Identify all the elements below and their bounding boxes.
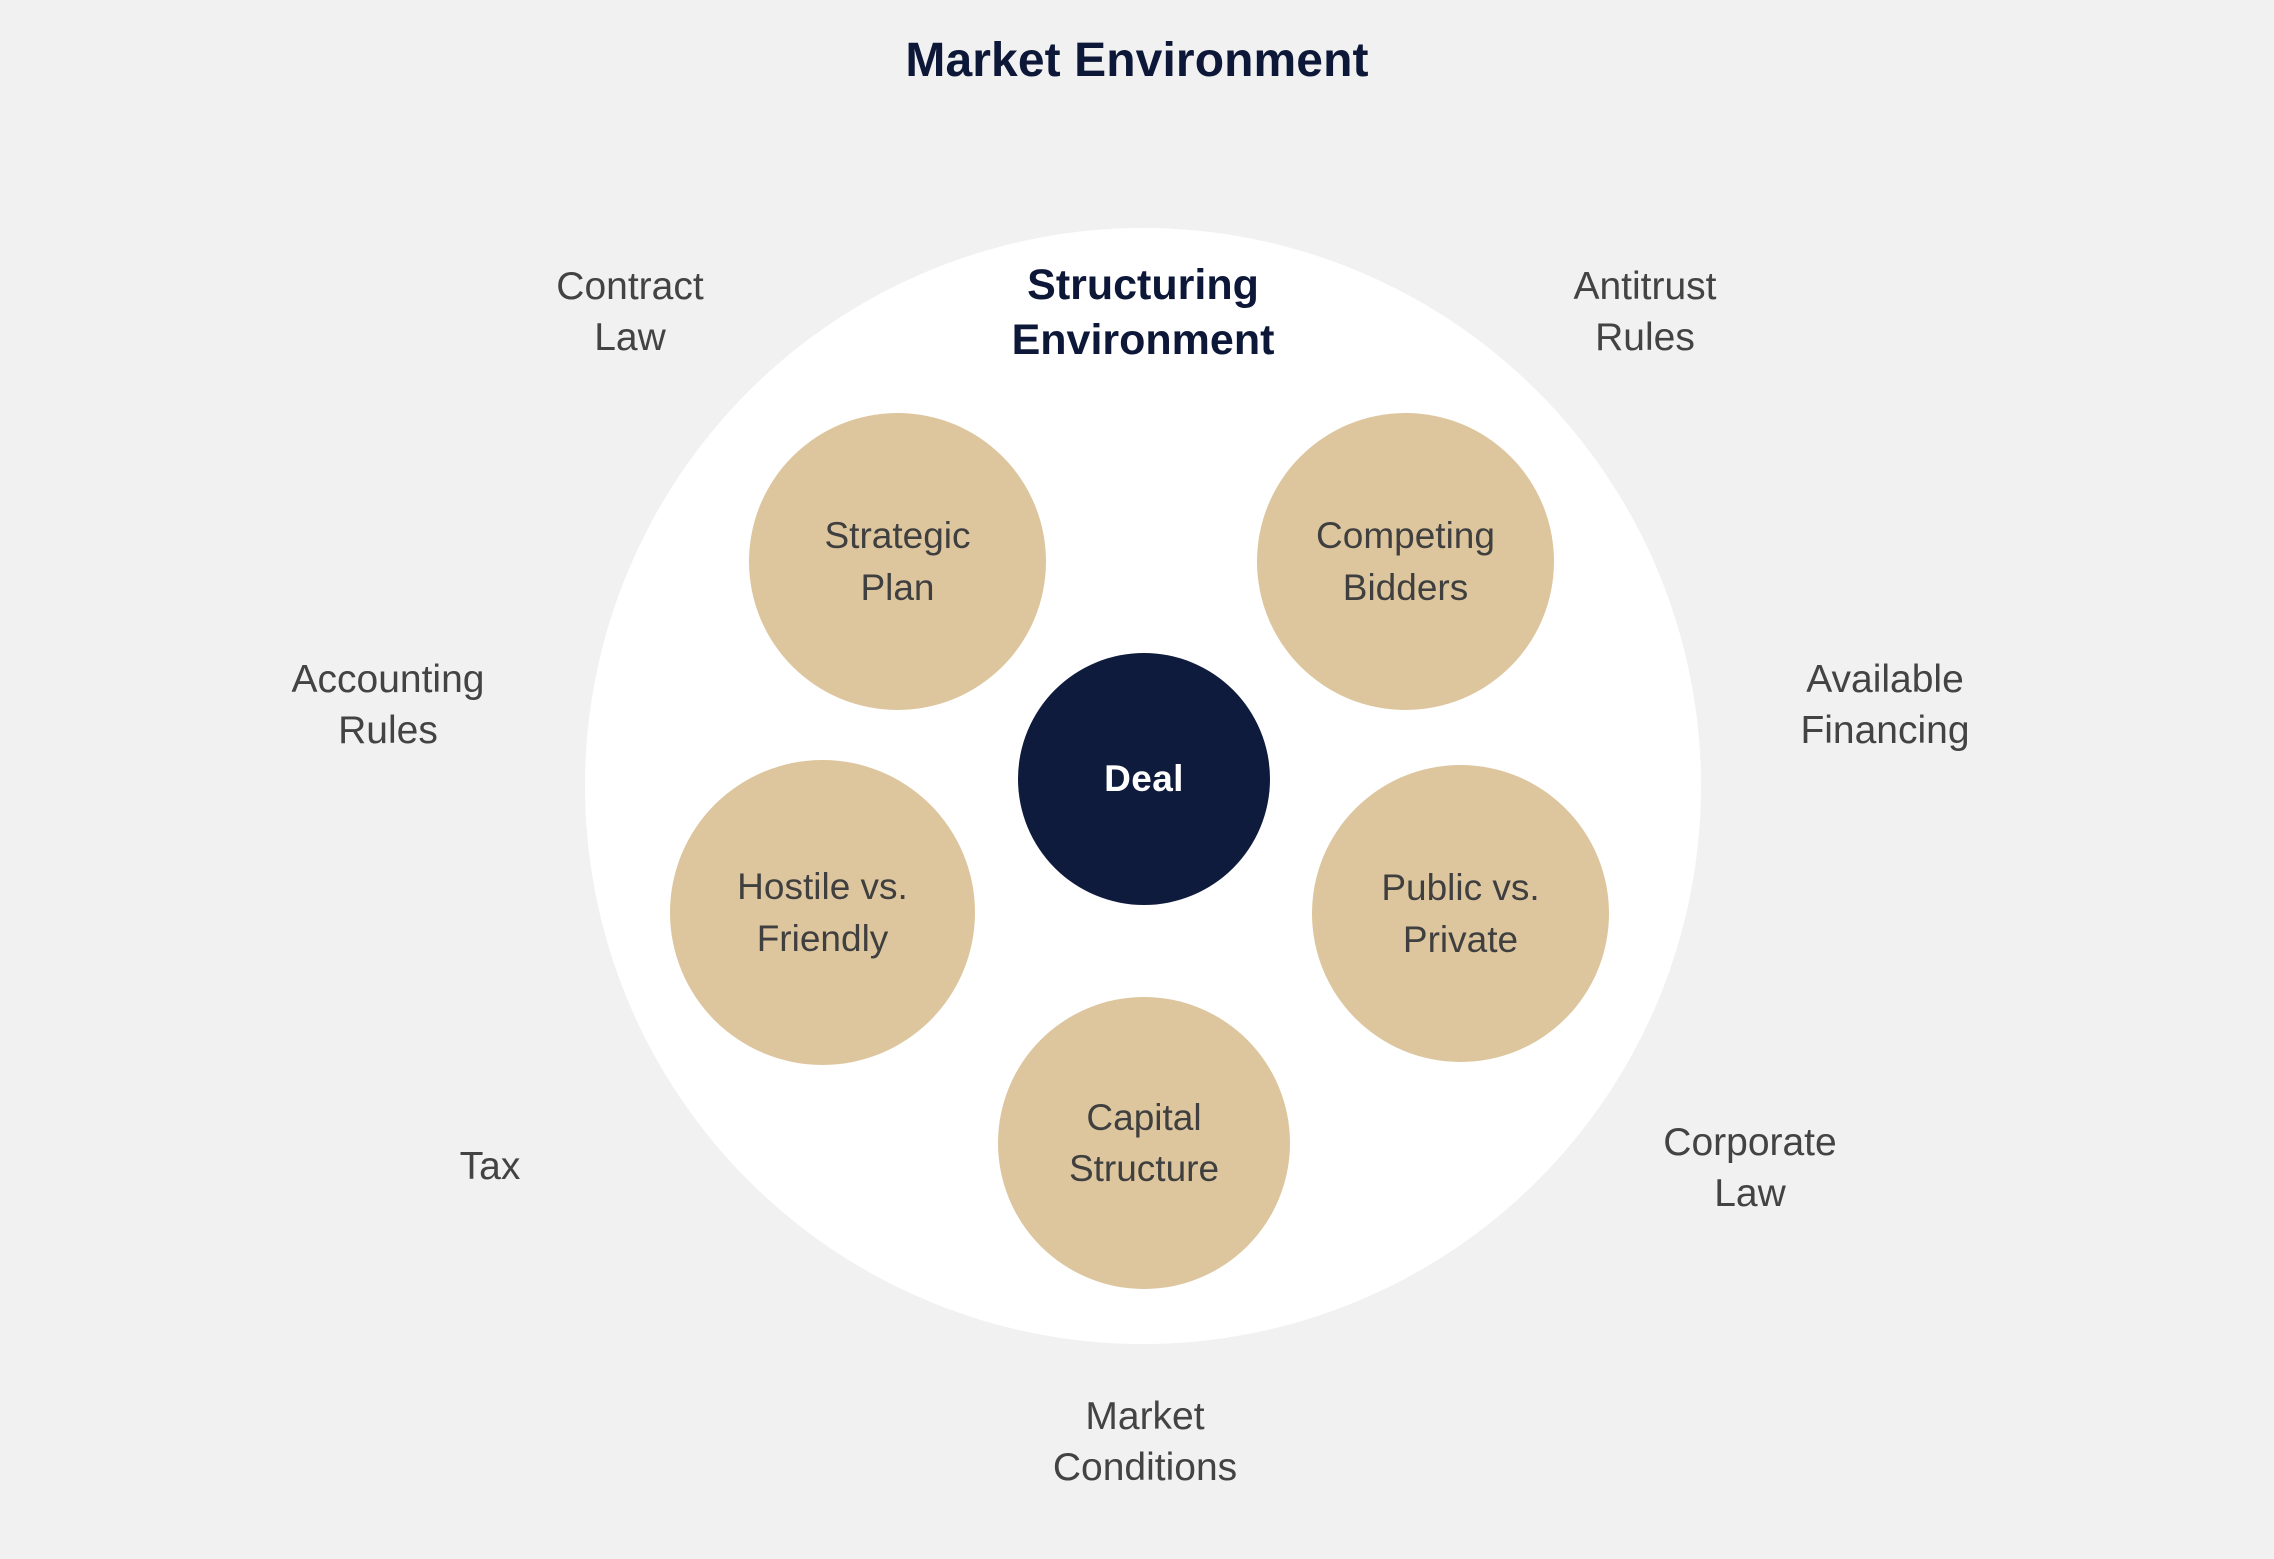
outer-label-available-financing-line-1: Available xyxy=(1740,655,2030,706)
node-strategic-plan-label: Strategic Plan xyxy=(824,510,970,612)
outer-label-contract-law: Contract Law xyxy=(520,262,740,363)
outer-label-market-conditions-line-1: Market xyxy=(1010,1392,1280,1443)
outer-label-available-financing: Available Financing xyxy=(1740,655,2030,756)
structuring-environment-title-line-1: Structuring xyxy=(893,258,1393,313)
outer-label-corporate-law: Corporate Law xyxy=(1620,1118,1880,1219)
node-capital-structure-line-2: Structure xyxy=(1069,1143,1219,1194)
outer-label-contract-law-line-2: Law xyxy=(520,313,740,364)
outer-label-corporate-law-line-2: Law xyxy=(1620,1169,1880,1220)
diagram-canvas: Market Environment Structuring Environme… xyxy=(0,0,2274,1559)
outer-label-antitrust-rules: Antitrust Rules xyxy=(1535,262,1755,363)
node-public-vs-private[interactable]: Public vs. Private xyxy=(1312,765,1609,1062)
outer-label-accounting-rules-line-2: Rules xyxy=(248,706,528,757)
outer-label-market-conditions: Market Conditions xyxy=(1010,1392,1280,1493)
node-public-vs-private-label: Public vs. Private xyxy=(1381,862,1539,964)
outer-label-accounting-rules: Accounting Rules xyxy=(248,655,528,756)
node-deal[interactable]: Deal xyxy=(1018,653,1270,905)
node-hostile-vs-friendly[interactable]: Hostile vs. Friendly xyxy=(670,760,975,1065)
outer-label-tax-line-1: Tax xyxy=(400,1142,580,1193)
node-competing-bidders-line-2: Bidders xyxy=(1316,562,1495,613)
node-capital-structure-label: Capital Structure xyxy=(1069,1092,1219,1194)
outer-label-corporate-law-line-1: Corporate xyxy=(1620,1118,1880,1169)
outer-label-accounting-rules-line-1: Accounting xyxy=(248,655,528,706)
node-capital-structure-line-1: Capital xyxy=(1069,1092,1219,1143)
page-title: Market Environment xyxy=(0,32,2274,90)
node-strategic-plan-line-1: Strategic xyxy=(824,510,970,561)
outer-label-market-conditions-line-2: Conditions xyxy=(1010,1443,1280,1494)
node-hostile-vs-friendly-line-2: Friendly xyxy=(737,913,908,964)
outer-label-tax: Tax xyxy=(400,1142,580,1193)
structuring-environment-title: Structuring Environment xyxy=(893,258,1393,368)
node-hostile-vs-friendly-line-1: Hostile vs. xyxy=(737,861,908,912)
node-strategic-plan-line-2: Plan xyxy=(824,562,970,613)
node-strategic-plan[interactable]: Strategic Plan xyxy=(749,413,1046,710)
node-competing-bidders-label: Competing Bidders xyxy=(1316,510,1495,612)
node-competing-bidders[interactable]: Competing Bidders xyxy=(1257,413,1554,710)
structuring-environment-title-line-2: Environment xyxy=(893,313,1393,368)
outer-label-contract-law-line-1: Contract xyxy=(520,262,740,313)
node-capital-structure[interactable]: Capital Structure xyxy=(998,997,1290,1289)
node-public-vs-private-line-1: Public vs. xyxy=(1381,862,1539,913)
node-competing-bidders-line-1: Competing xyxy=(1316,510,1495,561)
outer-label-antitrust-rules-line-2: Rules xyxy=(1535,313,1755,364)
outer-label-antitrust-rules-line-1: Antitrust xyxy=(1535,262,1755,313)
node-public-vs-private-line-2: Private xyxy=(1381,914,1539,965)
node-deal-label: Deal xyxy=(1104,758,1184,800)
node-hostile-vs-friendly-label: Hostile vs. Friendly xyxy=(737,861,908,963)
outer-label-available-financing-line-2: Financing xyxy=(1740,706,2030,757)
